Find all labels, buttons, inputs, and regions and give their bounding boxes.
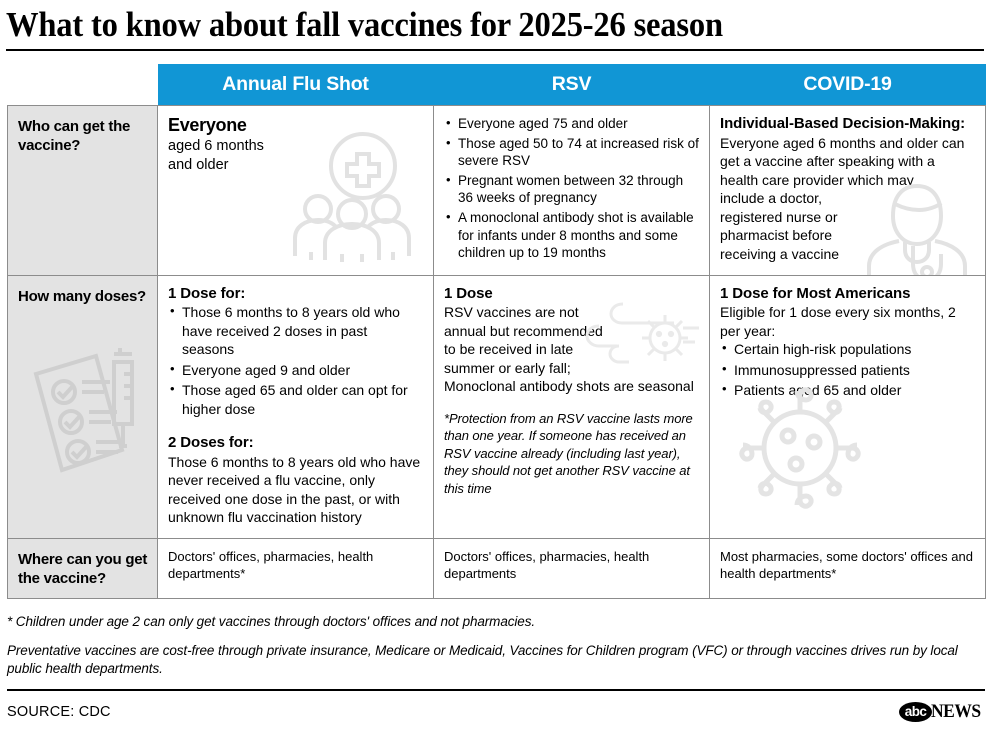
list-item: Patients aged 65 and older xyxy=(734,381,975,400)
title-block: What to know about fall vaccines for 202… xyxy=(0,0,992,49)
abc-news-logo: abc NEWS xyxy=(899,701,985,723)
flu-doses-bullets-1: Those 6 months to 8 years old who have r… xyxy=(168,303,423,418)
covid-doses-lead: 1 Dose for Most Americans xyxy=(720,285,975,303)
spacer xyxy=(168,420,423,434)
row-label-where-to-get: Where can you get the vaccine? xyxy=(8,538,158,598)
cell-who-rsv: Everyone aged 75 and older Those aged 50… xyxy=(434,106,710,276)
cell-who-flu: Everyone aged 6 monthsand older xyxy=(158,106,434,276)
cell-doses-flu: 1 Dose for: Those 6 months to 8 years ol… xyxy=(158,275,434,538)
footnote-asterisk: * Children under age 2 can only get vacc… xyxy=(7,613,985,631)
table-row: How many doses? xyxy=(8,275,986,538)
source-label: SOURCE: CDC xyxy=(7,704,111,720)
rsv-doses-lead: 1 Dose xyxy=(444,285,699,303)
flu-doses-lead2: 2 Doses for: xyxy=(168,434,423,452)
abc-news-wordmark: NEWS xyxy=(931,701,981,723)
cell-where-flu: Doctors' offices, pharmacies, health dep… xyxy=(158,538,434,598)
list-item: Everyone aged 9 and older xyxy=(182,361,423,380)
cell-who-covid: Individual-Based Decision-Making: Everyo… xyxy=(710,106,986,276)
abc-mark-icon: abc xyxy=(899,702,932,722)
table-body: Who can get the vaccine? Everyone aged 6… xyxy=(8,106,986,599)
column-header-rsv: RSV xyxy=(434,64,710,106)
coronavirus-icon xyxy=(730,384,870,514)
flu-who-body: aged 6 monthsand older xyxy=(168,137,423,175)
rsv-doses-body: RSV vaccines are notannual but recommend… xyxy=(444,303,699,396)
source-row: SOURCE: CDC abc NEWS xyxy=(7,691,985,723)
cell-doses-rsv: 1 Dose RSV vaccines are notannual but re… xyxy=(434,275,710,538)
table-header-row: Annual Flu Shot RSV COVID-19 xyxy=(8,64,986,106)
spacer xyxy=(444,396,699,410)
title-divider xyxy=(6,49,984,51)
comparison-table-wrap: Annual Flu Shot RSV COVID-19 Who can get… xyxy=(7,64,985,599)
flu-doses-body2: Those 6 months to 8 years old who have n… xyxy=(168,453,423,527)
column-header-flu: Annual Flu Shot xyxy=(158,64,434,106)
column-header-covid: COVID-19 xyxy=(710,64,986,106)
rsv-doses-note: *Protection from an RSV vaccine lasts mo… xyxy=(444,410,699,498)
covid-who-body: Everyone aged 6 months and older can get… xyxy=(720,134,975,264)
table-row: Where can you get the vaccine? Doctors' … xyxy=(8,538,986,598)
table-header: Annual Flu Shot RSV COVID-19 xyxy=(8,64,986,106)
cell-where-rsv: Doctors' offices, pharmacies, health dep… xyxy=(434,538,710,598)
cell-where-covid: Most pharmacies, some doctors' offices a… xyxy=(710,538,986,598)
clipboard-and-syringe-icon xyxy=(24,338,144,488)
footnotes-block: * Children under age 2 can only get vacc… xyxy=(7,613,985,678)
list-item: Certain high-risk populations xyxy=(734,340,975,359)
list-item: Pregnant women between 32 through 36 wee… xyxy=(458,172,699,207)
header-corner-blank xyxy=(8,64,158,106)
cell-doses-covid: 1 Dose for Most Americans Eligible for 1… xyxy=(710,275,986,538)
vaccine-comparison-table: Annual Flu Shot RSV COVID-19 Who can get… xyxy=(7,64,986,599)
row-label-who-can-get: Who can get the vaccine? xyxy=(8,106,158,276)
covid-doses-body: Eligible for 1 dose every six months, 2 … xyxy=(720,303,975,340)
list-item: Those aged 65 and older can opt for high… xyxy=(182,381,423,418)
flu-doses-lead1: 1 Dose for: xyxy=(168,285,423,303)
covid-who-lead: Individual-Based Decision-Making: xyxy=(720,115,975,133)
flu-who-lead: Everyone xyxy=(168,115,423,136)
row-label-how-many-doses: How many doses? xyxy=(8,275,158,538)
list-item: A monoclonal antibody shot is available … xyxy=(458,209,699,262)
table-row: Who can get the vaccine? Everyone aged 6… xyxy=(8,106,986,276)
list-item: Immunosuppressed patients xyxy=(734,361,975,380)
covid-doses-bullets: Certain high-risk populations Immunosupp… xyxy=(720,340,975,400)
row-label-text: How many doses? xyxy=(18,288,146,305)
rsv-who-bullets: Everyone aged 75 and older Those aged 50… xyxy=(444,115,699,262)
page-title: What to know about fall vaccines for 202… xyxy=(6,4,916,49)
footnote-cost: Preventative vaccines are cost-free thro… xyxy=(7,642,985,678)
list-item: Those 6 months to 8 years old who have r… xyxy=(182,303,423,359)
list-item: Those aged 50 to 74 at increased risk of… xyxy=(458,135,699,170)
list-item: Everyone aged 75 and older xyxy=(458,115,699,133)
